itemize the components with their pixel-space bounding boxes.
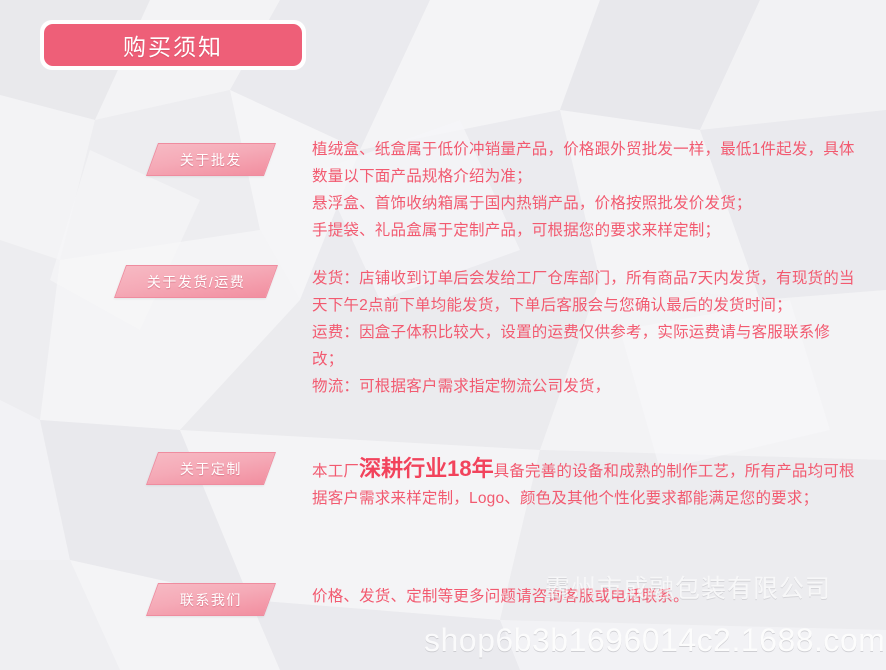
body-prefix: 本工厂 xyxy=(312,463,359,480)
body-emphasis: 深耕行业18年 xyxy=(359,456,493,481)
section-tag-contact: 联系我们 xyxy=(146,583,276,616)
section-tag-label: 联系我们 xyxy=(180,590,242,610)
body-line: 植绒盒、纸盒属于低价冲销量产品，价格跟外贸批发一样，最低1件起发，具体数量以下面… xyxy=(312,136,857,190)
body-paragraph-rich: 本工厂深耕行业18年具备完善的设备和成熟的制作工艺，所有产品均可根据客户需求来样… xyxy=(312,455,857,512)
body-line: 物流：可根据客户需求指定物流公司发货， xyxy=(312,373,857,400)
header-pill: 购买须知 xyxy=(44,24,302,66)
section-tag-label: 关于批发 xyxy=(180,150,242,170)
page-title: 购买须知 xyxy=(123,28,223,62)
section-tag-label: 关于定制 xyxy=(180,459,242,479)
purchase-notice-banner: 购买须知 关于批发 植绒盒、纸盒属于低价冲销量产品，价格跟外贸批发一样，最低1件… xyxy=(0,0,886,670)
section-body-shipping: 发货：店铺收到订单后会发给工厂仓库部门，所有商品7天内发货，有现货的当天下午2点… xyxy=(312,265,857,400)
body-line: 价格、发货、定制等更多问题请咨询客服或电话联系。 xyxy=(312,583,857,610)
section-tag-wholesale: 关于批发 xyxy=(146,143,276,176)
section-body-wholesale: 植绒盒、纸盒属于低价冲销量产品，价格跟外贸批发一样，最低1件起发，具体数量以下面… xyxy=(312,136,857,244)
section-tag-shipping: 关于发货/运费 xyxy=(114,265,278,298)
body-line: 运费：因盒子体积比较大，设置的运费仅供参考，实际运费请与客服联系修改； xyxy=(312,319,857,373)
section-body-contact: 价格、发货、定制等更多问题请咨询客服或电话联系。 xyxy=(312,583,857,610)
section-tag-customization: 关于定制 xyxy=(146,452,276,485)
section-tag-label: 关于发货/运费 xyxy=(147,272,245,292)
body-line: 悬浮盒、首饰收纳箱属于国内热销产品，价格按照批发价发货； xyxy=(312,190,857,217)
section-body-customization: 本工厂深耕行业18年具备完善的设备和成熟的制作工艺，所有产品均可根据客户需求来样… xyxy=(312,455,857,512)
body-line: 手提袋、礼品盒属于定制产品，可根据您的要求来样定制； xyxy=(312,217,857,244)
body-line: 发货：店铺收到订单后会发给工厂仓库部门，所有商品7天内发货，有现货的当天下午2点… xyxy=(312,265,857,319)
section-header-badge: 购买须知 xyxy=(40,20,306,70)
